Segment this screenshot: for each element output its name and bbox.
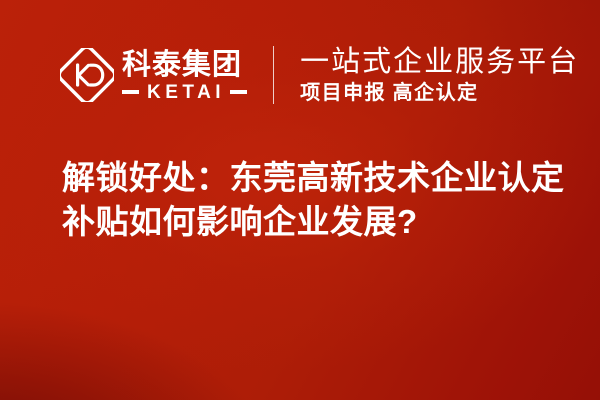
wordmark-dash-right-icon — [230, 90, 247, 94]
wordmark: 科泰集团 KETAI — [122, 49, 247, 102]
brand-name-cn: 科泰集团 — [122, 49, 247, 81]
ketai-diamond-kd-monogram-icon — [60, 48, 114, 102]
wordmark-dash-left-icon — [122, 90, 139, 94]
brand-lockup[interactable]: 科泰集团 KETAI — [60, 48, 247, 102]
vertical-divider — [273, 46, 274, 104]
tagline-secondary: 项目申报 高企认定 — [300, 81, 579, 105]
headline-line-1: 解锁好处：东莞高新技术企业认定 — [62, 156, 562, 200]
brand-name-en-row: KETAI — [122, 83, 247, 102]
tagline-primary: 一站式企业服务平台 — [300, 45, 579, 79]
banner-header: 科泰集团 KETAI 一站式企业服务平台 项目申报 高企认定 — [0, 38, 600, 112]
headline-line-2: 补贴如何影响企业发展? — [62, 200, 562, 244]
promo-banner: 科泰集团 KETAI 一站式企业服务平台 项目申报 高企认定 解锁好处：东莞高新… — [0, 0, 600, 400]
background-bottom-left-shadow — [0, 280, 288, 400]
tagline-block: 一站式企业服务平台 项目申报 高企认定 — [300, 45, 579, 105]
brand-name-en: KETAI — [139, 83, 230, 102]
headline: 解锁好处：东莞高新技术企业认定 补贴如何影响企业发展? — [62, 156, 562, 244]
